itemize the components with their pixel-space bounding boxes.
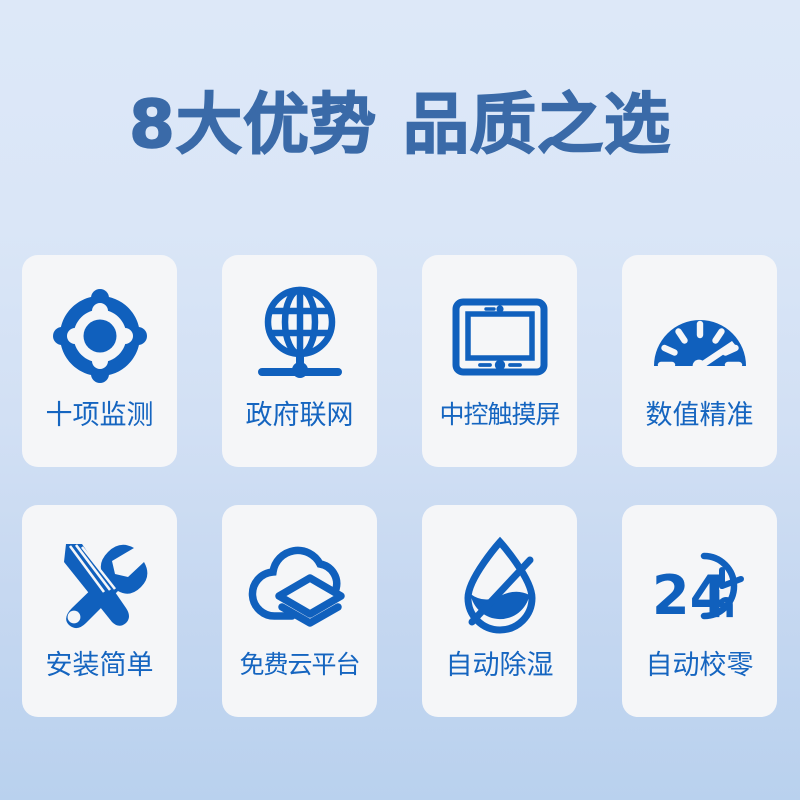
feature-label: 免费云平台 — [239, 651, 359, 679]
badge-h-text: h — [710, 585, 736, 626]
feature-label: 自动校零 — [646, 651, 754, 681]
feature-card-auto-zero[interactable]: 24 h 自动校零 — [622, 505, 777, 717]
touchscreen-tablet-icon — [440, 277, 560, 395]
target-crosshair-icon — [40, 277, 160, 395]
globe-network-icon — [240, 277, 360, 395]
title-part-2: 品质之选 — [403, 86, 671, 163]
feature-label: 数值精准 — [646, 401, 754, 431]
feature-grid: 十项监测 — [22, 255, 778, 717]
promo-feature-page: 8大优势品质之选 — [0, 0, 800, 800]
water-drop-slash-icon — [440, 527, 560, 645]
feature-card-cloud-platform[interactable]: 免费云平台 — [222, 505, 377, 717]
feature-card-easy-install[interactable]: 安装简单 — [22, 505, 177, 717]
feature-card-gov-network[interactable]: 政府联网 — [222, 255, 377, 467]
cloud-layers-icon — [240, 527, 360, 645]
feature-label: 自动除湿 — [446, 651, 554, 681]
feature-card-touchscreen[interactable]: 中控触摸屏 — [422, 255, 577, 467]
page-title-text: 8大优势品质之选 — [129, 92, 671, 158]
page-title: 8大优势品质之选 — [0, 92, 800, 158]
feature-card-monitoring[interactable]: 十项监测 — [22, 255, 177, 467]
feature-label: 中控触摸屏 — [439, 401, 559, 429]
feature-label: 十项监测 — [46, 401, 154, 431]
wrench-screwdriver-icon — [40, 527, 160, 645]
gauge-speedometer-icon — [640, 277, 760, 395]
feature-card-accuracy[interactable]: 数值精准 — [622, 255, 777, 467]
24h-clock-icon: 24 h — [640, 527, 760, 645]
feature-card-dehumidify[interactable]: 自动除湿 — [422, 505, 577, 717]
title-part-1: 8大优势 — [129, 86, 377, 163]
feature-label: 安装简单 — [46, 651, 154, 681]
feature-label: 政府联网 — [246, 401, 354, 431]
